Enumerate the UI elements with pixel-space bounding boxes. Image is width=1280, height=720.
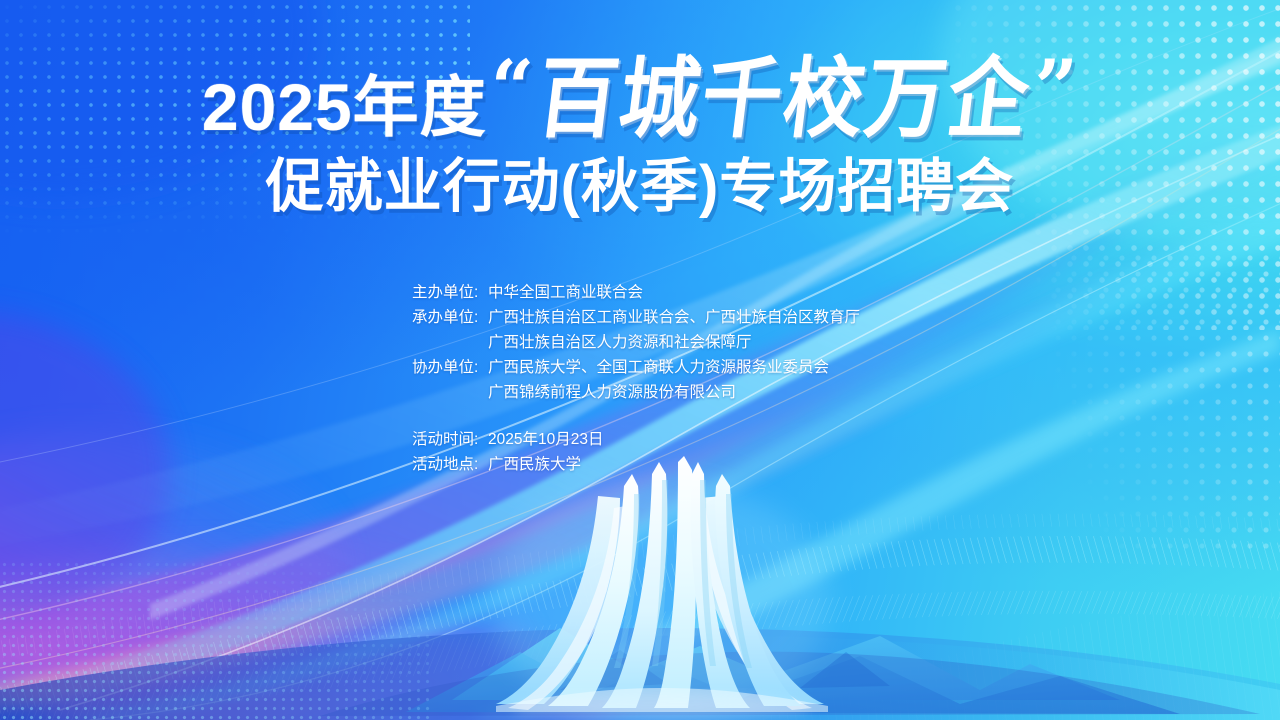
credit-row: 主办单位: 中华全国工商业联合会 [412, 280, 932, 305]
credit-value: 广西民族大学、全国工商联人力资源服务业委员会 [488, 355, 932, 380]
headline-subtitle: 促就业行动(秋季)专场招聘会 [0, 154, 1280, 221]
credit-group-coorganizer: 协办单位: 广西民族大学、全国工商联人力资源服务业委员会 协办单位: 广西锦绣前… [412, 355, 932, 405]
credit-row: 承办单位: 广西壮族自治区工商业联合会、广西壮族自治区教育厅 [412, 305, 932, 330]
credit-row: 承办单位: 广西壮族自治区人力资源和社会保障厅 [412, 330, 932, 355]
quote-open-mark: “ [491, 50, 535, 126]
ground-geometry [0, 628, 1280, 720]
credit-label: 协办单位: [412, 355, 488, 380]
event-venue-value: 广西民族大学 [488, 452, 932, 477]
info-spacer [412, 405, 932, 427]
event-meta: 活动时间: 2025年10月23日 活动地点: 广西民族大学 [412, 427, 932, 477]
poster-canvas: 2025年度 “ 百城千校万企 ” 促就业行动(秋季)专场招聘会 主办单位: 中… [0, 0, 1280, 720]
credit-value: 广西壮族自治区工商业联合会、广西壮族自治区教育厅 [488, 305, 932, 330]
halftone-dots-right [1050, 250, 1280, 550]
poster-headline: 2025年度 “ 百城千校万企 ” 促就业行动(秋季)专场招聘会 [0, 62, 1280, 221]
credit-label: 承办单位: [412, 305, 488, 330]
cathedral-monument [490, 456, 830, 720]
event-time-label: 活动时间: [412, 427, 488, 452]
event-time-value: 2025年10月23日 [488, 427, 932, 452]
event-venue-label: 活动地点: [412, 452, 488, 477]
credit-row: 协办单位: 广西锦绣前程人力资源股份有限公司 [412, 380, 932, 405]
quote-close-mark: ” [1034, 50, 1078, 126]
credit-value: 中华全国工商业联合会 [488, 280, 932, 305]
poster-info-block: 主办单位: 中华全国工商业联合会 承办单位: 广西壮族自治区工商业联合会、广西壮… [412, 280, 932, 477]
credit-group-host: 主办单位: 中华全国工商业联合会 [412, 280, 932, 305]
event-time-row: 活动时间: 2025年10月23日 [412, 427, 932, 452]
credit-label: 主办单位: [412, 280, 488, 305]
halftone-dots-bottom-left [0, 560, 430, 720]
event-venue-row: 活动地点: 广西民族大学 [412, 452, 932, 477]
credit-value: 广西壮族自治区人力资源和社会保障厅 [488, 330, 932, 355]
credit-value: 广西锦绣前程人力资源股份有限公司 [488, 380, 932, 405]
headline-brush-slogan: 百城千校万企 [533, 54, 1036, 142]
credit-row: 协办单位: 广西民族大学、全国工商联人力资源服务业委员会 [412, 355, 932, 380]
headline-year: 2025年度 [202, 74, 487, 140]
mesh-ribbon-left [0, 514, 1280, 720]
mesh-field-right [760, 590, 1280, 720]
credit-group-organizer: 承办单位: 广西壮族自治区工商业联合会、广西壮族自治区教育厅 承办单位: 广西壮… [412, 305, 932, 355]
headline-line-1: 2025年度 “ 百城千校万企 ” [0, 62, 1280, 142]
